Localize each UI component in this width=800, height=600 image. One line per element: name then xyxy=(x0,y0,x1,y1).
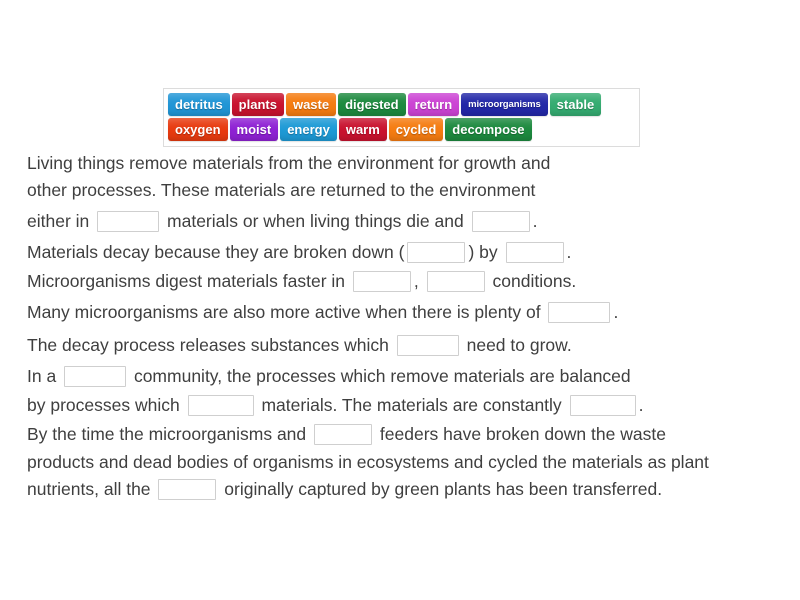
blank-2[interactable] xyxy=(472,211,530,232)
blank-10[interactable] xyxy=(188,395,254,416)
passage-line-3: either in materials or when living thing… xyxy=(27,205,775,238)
word-bank-row-1: detritus plants waste digested return mi… xyxy=(168,93,635,116)
word-tile-warm[interactable]: warm xyxy=(339,118,387,141)
word-tile-moist[interactable]: moist xyxy=(230,118,279,141)
word-tile-digested[interactable]: digested xyxy=(338,93,405,116)
text-fragment: nutrients, all the xyxy=(27,479,151,499)
blank-4[interactable] xyxy=(506,242,564,263)
passage-line-9: by processes which materials. The materi… xyxy=(27,391,775,420)
blank-6[interactable] xyxy=(427,271,485,292)
passage-line-2: other processes. These materials are ret… xyxy=(27,176,775,205)
passage-text: Living things remove materials from the … xyxy=(27,150,775,504)
word-tile-stable[interactable]: stable xyxy=(550,93,602,116)
text-fragment: , xyxy=(414,271,419,291)
text-fragment: conditions. xyxy=(493,271,577,291)
text-fragment: feeders have broken down the waste xyxy=(380,424,666,444)
word-bank-panel: detritus plants waste digested return mi… xyxy=(163,88,640,147)
word-tile-detritus[interactable]: detritus xyxy=(168,93,230,116)
text-fragment: . xyxy=(639,395,644,415)
passage-line-7: The decay process releases substances wh… xyxy=(27,329,775,362)
passage-line-10: By the time the microorganisms and feede… xyxy=(27,420,775,449)
blank-5[interactable] xyxy=(353,271,411,292)
word-tile-waste[interactable]: waste xyxy=(286,93,336,116)
blank-13[interactable] xyxy=(158,479,216,500)
word-tile-return[interactable]: return xyxy=(408,93,460,116)
passage-line-5: Microorganisms digest materials faster i… xyxy=(27,267,775,296)
text-fragment: Living things remove materials from the … xyxy=(27,153,550,173)
blank-3[interactable] xyxy=(407,242,465,263)
word-tile-energy[interactable]: energy xyxy=(280,118,337,141)
text-fragment: other processes. These materials are ret… xyxy=(27,180,535,200)
blank-1[interactable] xyxy=(97,211,159,232)
text-fragment: ) by xyxy=(468,242,497,262)
text-fragment: by processes which xyxy=(27,395,180,415)
text-fragment: Materials decay because they are broken … xyxy=(27,242,404,262)
blank-9[interactable] xyxy=(64,366,126,387)
text-fragment: By the time the microorganisms and xyxy=(27,424,306,444)
text-fragment: community, the processes which remove ma… xyxy=(134,366,631,386)
word-tile-plants[interactable]: plants xyxy=(232,93,284,116)
text-fragment: In a xyxy=(27,366,56,386)
blank-7[interactable] xyxy=(548,302,610,323)
text-fragment: materials. The materials are constantly xyxy=(261,395,561,415)
passage-line-12: nutrients, all the originally captured b… xyxy=(27,475,775,504)
word-bank-row-2: oxygen moist energy warm cycled decompos… xyxy=(168,118,635,141)
passage-line-4: Materials decay because they are broken … xyxy=(27,238,775,267)
passage-line-6: Many microorganisms are also more active… xyxy=(27,296,775,329)
passage-line-11: products and dead bodies of organisms in… xyxy=(27,449,775,475)
text-fragment: The decay process releases substances wh… xyxy=(27,335,389,355)
blank-8[interactable] xyxy=(397,335,459,356)
blank-11[interactable] xyxy=(570,395,636,416)
passage-line-8: In a community, the processes which remo… xyxy=(27,362,775,391)
text-fragment: . xyxy=(613,302,618,322)
word-tile-oxygen[interactable]: oxygen xyxy=(168,118,228,141)
text-fragment: originally captured by green plants has … xyxy=(224,479,662,499)
passage-line-1: Living things remove materials from the … xyxy=(27,150,775,176)
text-fragment: products and dead bodies of organisms in… xyxy=(27,452,709,472)
text-fragment: need to grow. xyxy=(467,335,572,355)
word-tile-decompose[interactable]: decompose xyxy=(445,118,531,141)
text-fragment: either in xyxy=(27,211,89,231)
text-fragment: Many microorganisms are also more active… xyxy=(27,302,541,322)
text-fragment: materials or when living things die and xyxy=(167,211,464,231)
text-fragment: . xyxy=(533,211,538,231)
text-fragment: Microorganisms digest materials faster i… xyxy=(27,271,345,291)
word-tile-microorganisms[interactable]: microorganisms xyxy=(461,93,548,116)
blank-12[interactable] xyxy=(314,424,372,445)
text-fragment: . xyxy=(567,242,572,262)
word-tile-cycled[interactable]: cycled xyxy=(389,118,443,141)
